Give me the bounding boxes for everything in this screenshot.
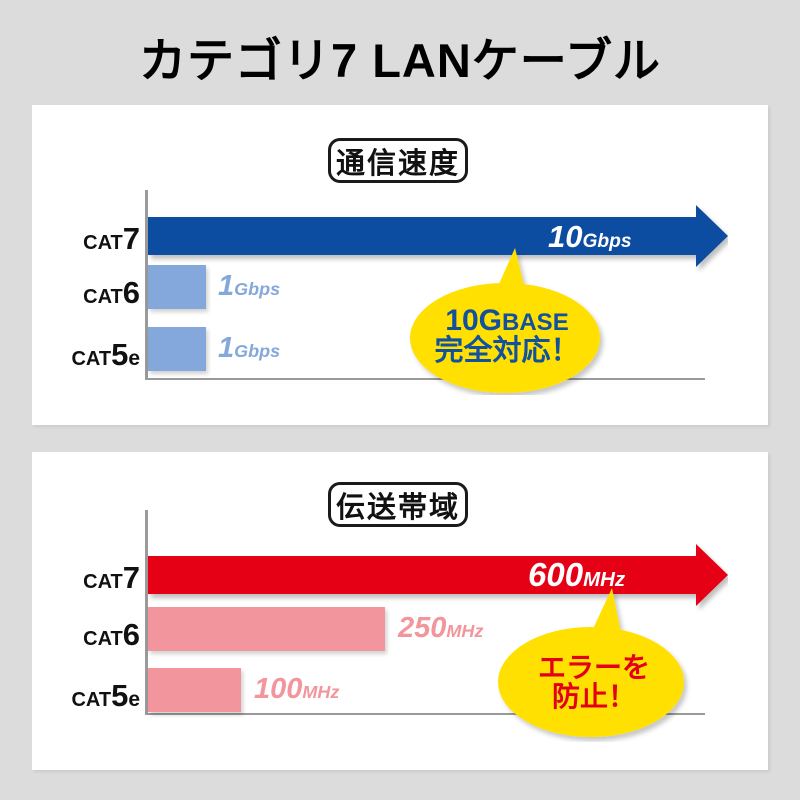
band-cat7-prefix: CAT: [83, 571, 123, 593]
speed-callout-bubble: 10GBASE 完全対応！: [407, 230, 607, 395]
speed-value-cat6-unit: Gbps: [234, 279, 280, 299]
bandwidth-value-cat6: 250MHz: [398, 614, 483, 643]
speed-bubble-line1: 10GBASE: [407, 306, 607, 337]
panel-transmission-bandwidth: 伝送帯域 CAT7 600MHz CAT6 250MH: [32, 452, 768, 770]
bandwidth-category-label-cat5e: CAT5e: [34, 680, 140, 711]
infographic-stage: カテゴリ7 LANケーブル 通信速度 CAT7 10Gbps: [0, 0, 800, 800]
page-title: カテゴリ7 LANケーブル: [0, 22, 800, 91]
speed-bar-cat5e: [148, 327, 206, 371]
bandwidth-bubble-text: エラーを 防止！: [494, 654, 694, 711]
cat6-prefix: CAT: [83, 286, 123, 308]
cat7-prefix: CAT: [83, 232, 123, 254]
speed-category-label-cat6: CAT6: [40, 277, 140, 308]
bandwidth-category-label-cat7: CAT7: [40, 562, 140, 593]
bandwidth-caption-label: 伝送帯域: [336, 484, 460, 526]
cat5e-suffix: e: [128, 347, 140, 370]
band-cat6-number: 6: [123, 617, 140, 652]
bandwidth-bubble-line2: 防止！: [494, 683, 694, 712]
speed-caption-label: 通信速度: [336, 140, 460, 182]
band-cat5e-suffix: e: [128, 688, 140, 711]
bandwidth-value-cat6-unit: MHz: [446, 621, 483, 641]
bandwidth-bubble-line1: エラーを: [494, 654, 694, 683]
band-cat5e-number: 5: [111, 678, 128, 713]
band-cat5e-prefix: CAT: [71, 689, 111, 711]
bandwidth-category-label-cat6: CAT6: [40, 619, 140, 650]
band-cat6-prefix: CAT: [83, 628, 123, 650]
bandwidth-value-cat5e-unit: MHz: [302, 682, 339, 702]
speed-value-cat6-number: 1: [218, 270, 234, 302]
speed-value-cat6: 1Gbps: [218, 272, 280, 301]
speed-caption-box: 通信速度: [328, 138, 468, 183]
speed-category-label-cat7: CAT7: [40, 223, 140, 254]
speed-value-cat5e: 1Gbps: [218, 334, 280, 363]
speed-bubble-line1-b: BASE: [502, 309, 569, 336]
bandwidth-bar-cat6: [148, 607, 385, 651]
speed-category-label-cat5e: CAT5e: [34, 339, 140, 370]
bandwidth-callout-bubble: エラーを 防止！: [494, 574, 694, 742]
speed-value-cat5e-unit: Gbps: [234, 341, 280, 361]
bandwidth-value-cat5e-number: 100: [254, 673, 302, 705]
bandwidth-value-cat5e: 100MHz: [254, 675, 339, 704]
speed-bar-cat6: [148, 265, 206, 309]
band-cat7-number: 7: [123, 560, 140, 595]
bandwidth-value-cat6-number: 250: [398, 612, 446, 644]
cat5e-number: 5: [111, 337, 128, 372]
cat6-number: 6: [123, 275, 140, 310]
bandwidth-bar-cat5e: [148, 668, 241, 712]
speed-bubble-line2: 完全対応！: [407, 337, 607, 367]
speed-bubble-line1-a: 10G: [445, 304, 502, 337]
speed-value-cat5e-number: 1: [218, 332, 234, 364]
panel-communication-speed: 通信速度 CAT7 10Gbps CAT6 1Gbps: [32, 105, 768, 425]
bandwidth-caption-box: 伝送帯域: [328, 482, 468, 527]
cat5e-prefix: CAT: [71, 348, 111, 370]
speed-bubble-text: 10GBASE 完全対応！: [407, 306, 607, 366]
cat7-number: 7: [123, 221, 140, 256]
